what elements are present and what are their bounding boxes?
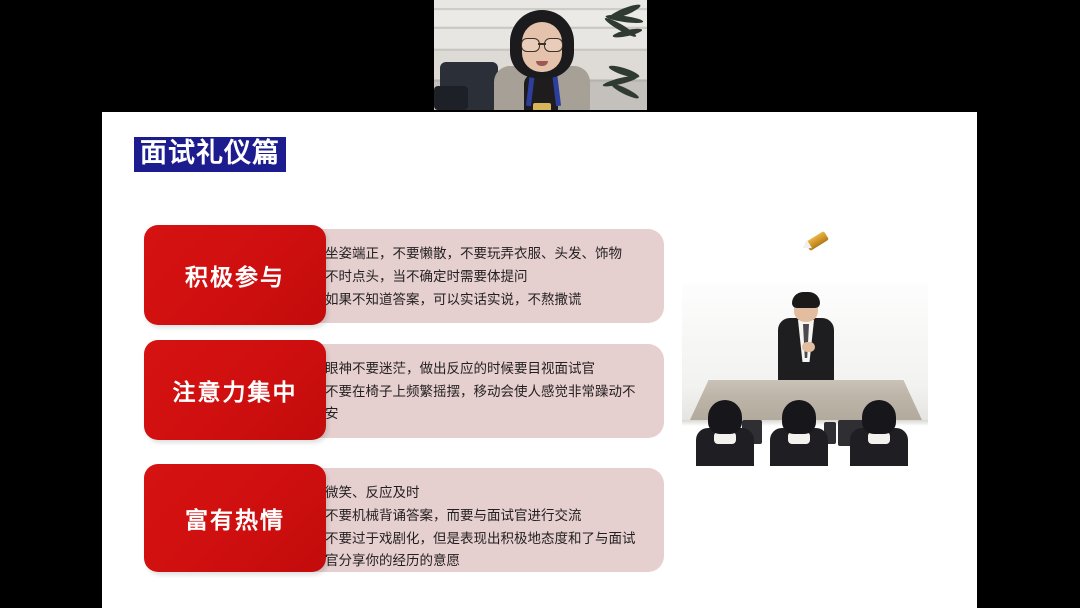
list-item: 坐姿端正，不要懒散，不要玩弄衣服、头发、饰物 [314, 243, 648, 265]
photo-interviewer-row [680, 392, 940, 466]
candidate-hand [802, 342, 815, 352]
section-3-detail-panel: 微笑、反应及时 不要机械背诵答案，而要与面试官进行交流 不要过于戏剧化，但是表现… [292, 468, 664, 572]
list-item: 如果不知道答案，可以实话实说，不熬撒谎 [314, 289, 648, 311]
slide-section-1: 坐姿端正，不要懒散，不要玩弄衣服、头发、饰物 不时点头，当不确定时需要体提问 如… [144, 225, 664, 325]
candidate-hair [792, 292, 820, 308]
presentation-slide[interactable]: 面试礼仪篇 坐姿端正，不要懒散，不要玩弄衣服、头发、饰物 不时点头，当不确定时需… [102, 112, 977, 608]
slide-section-3: 微笑、反应及时 不要机械背诵答案，而要与面试官进行交流 不要过于戏剧化，但是表现… [144, 464, 664, 572]
webcam-presenter [492, 8, 592, 110]
photo-candidate [778, 294, 834, 386]
photo-interviewer [692, 400, 756, 466]
section-1-heading-badge: 积极参与 [144, 225, 326, 325]
photo-interviewer [766, 400, 830, 466]
list-item: 不时点头，当不确定时需要体提问 [314, 266, 648, 288]
presenter-badge [533, 103, 551, 110]
section-3-bullet-list: 微笑、反应及时 不要机械背诵答案，而要与面试官进行交流 不要过于戏剧化，但是表现… [314, 482, 648, 571]
screen-root: 面试礼仪篇 坐姿端正，不要懒散，不要玩弄衣服、头发、饰物 不时点头，当不确定时需… [0, 0, 1080, 608]
webcam-office-chair-second [434, 86, 468, 110]
section-1-detail-panel: 坐姿端正，不要懒散，不要玩弄衣服、头发、饰物 不时点头，当不确定时需要体提问 如… [292, 229, 664, 323]
section-2-detail-panel: 眼神不要迷茫，做出反应的时候要目视面试官 不要在椅子上频繁摇摆，移动会使人感觉非… [292, 344, 664, 438]
photo-interviewer [846, 400, 910, 466]
interview-scene-photo [680, 252, 940, 472]
glasses-icon [520, 38, 564, 50]
section-1-bullet-list: 坐姿端正，不要懒散，不要玩弄衣服、头发、饰物 不时点头，当不确定时需要体提问 如… [314, 243, 648, 311]
section-2-heading-badge: 注意力集中 [144, 340, 326, 440]
slide-section-2: 眼神不要迷茫，做出反应的时候要目视面试官 不要在椅子上频繁摇摆，移动会使人感觉非… [144, 340, 664, 440]
section-2-bullet-list: 眼神不要迷茫，做出反应的时候要目视面试官 不要在椅子上频繁摇摆，移动会使人感觉非… [314, 358, 648, 425]
slide-title: 面试礼仪篇 [134, 137, 286, 172]
list-item: 不要过于戏剧化，但是表现出积极地态度和了与面试官分享你的经历的意愿 [314, 528, 648, 572]
list-item: 不要机械背诵答案，而要与面试官进行交流 [314, 505, 648, 527]
list-item: 眼神不要迷茫，做出反应的时候要目视面试官 [314, 358, 648, 380]
presenter-webcam-video[interactable] [434, 0, 647, 110]
list-item: 不要在椅子上频繁摇摆，移动会使人感觉非常躁动不安 [314, 381, 648, 425]
section-3-heading-badge: 富有热情 [144, 464, 326, 572]
list-item: 微笑、反应及时 [314, 482, 648, 504]
